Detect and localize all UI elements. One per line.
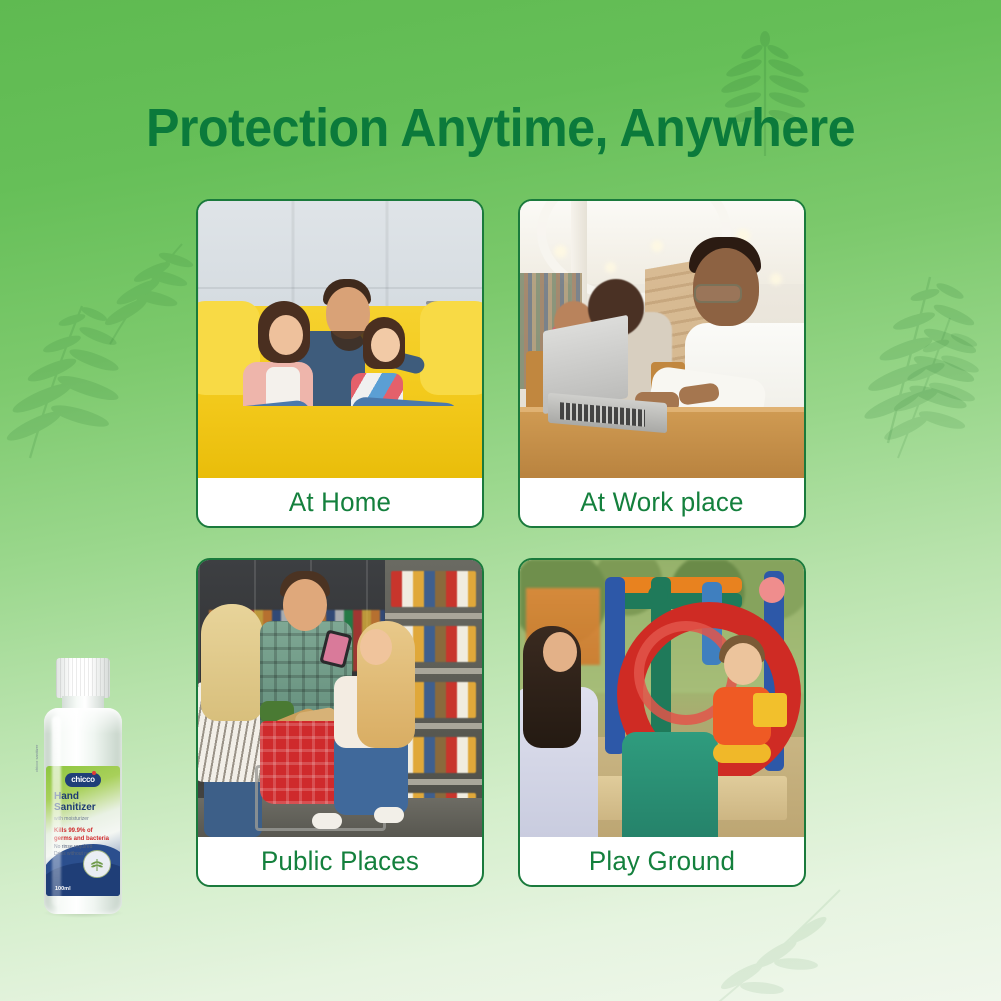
bottle-side-text: chicco sanitizer	[34, 698, 43, 772]
product-claim: Kills 99.9% of germs and bacteria	[54, 828, 114, 843]
scene-supermarket-shopping	[198, 560, 482, 837]
product-name: Hand Sanitizer	[54, 791, 114, 813]
scene-man-at-laptop-library	[520, 201, 804, 478]
poster-canvas: Protection Anytime, Anywhere	[0, 0, 1001, 1001]
product-subtitle: with moisturizer	[54, 816, 114, 823]
bottle-cap	[56, 658, 110, 698]
card-at-work-place[interactable]: At Work place	[518, 199, 806, 528]
product-bottle[interactable]: chicco Hand Sanitizer with moisturizer K…	[36, 658, 132, 916]
leaf-watermark-bottom-right	[700, 880, 850, 1001]
card-play-ground[interactable]: Play Ground	[518, 558, 806, 887]
card-public-places[interactable]: Public Places	[196, 558, 484, 887]
leaf-watermark-left-upper	[78, 236, 198, 346]
leaf-watermark-right-mid	[830, 255, 1000, 445]
scene-playground	[520, 560, 804, 837]
product-name-line1: Hand	[54, 791, 114, 802]
leaf-watermark-right-lower	[880, 300, 1001, 460]
card-label-play-ground: Play Ground	[526, 837, 799, 885]
dermatologically-tested-seal-icon	[83, 850, 111, 878]
brand-logo: chicco	[65, 773, 101, 787]
leaf-watermark-left-mid	[0, 290, 144, 460]
product-claim-line1: Kills 99.9% of	[54, 828, 114, 836]
photo-play-ground	[520, 560, 804, 837]
card-label-at-work-place: At Work place	[526, 478, 799, 526]
brand-name: chicco	[71, 776, 95, 784]
card-label-public-places: Public Places	[204, 837, 477, 885]
card-at-home[interactable]: At Home	[196, 199, 484, 528]
scene-family-on-sofa	[198, 201, 482, 478]
product-claim-line2: germs and bacteria	[54, 836, 114, 844]
photo-at-work-place	[520, 201, 804, 478]
use-case-grid: At Home	[196, 199, 806, 887]
page-title: Protection Anytime, Anywhere	[35, 97, 966, 159]
bottle-gloss-highlight	[52, 716, 61, 906]
card-label-at-home: At Home	[204, 478, 477, 526]
photo-at-home	[198, 201, 482, 478]
photo-public-places	[198, 560, 482, 837]
product-name-line2: Sanitizer	[54, 802, 114, 813]
